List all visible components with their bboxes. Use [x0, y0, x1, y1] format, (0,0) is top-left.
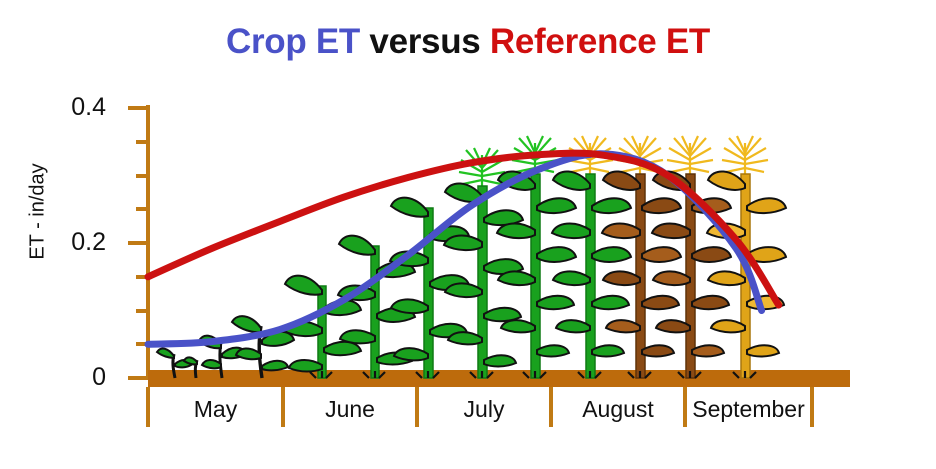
crop-row	[157, 136, 786, 378]
chart-root: Crop ET versus Reference ET ET - in/day …	[0, 0, 936, 469]
x-axis-ticks	[148, 387, 812, 427]
plot-area	[0, 0, 936, 469]
y-axis	[128, 105, 148, 378]
